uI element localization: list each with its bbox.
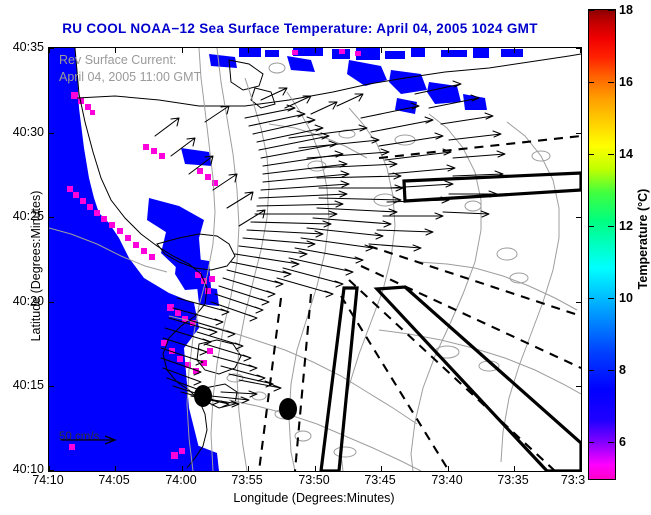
- colorbar-label-12: 12: [619, 219, 633, 233]
- colorbar-label-16: 16: [619, 75, 633, 89]
- colorbar-tick-right-8: [608, 370, 614, 371]
- y-tick-right-0: [576, 48, 581, 49]
- y-tick-right-5: [576, 470, 581, 471]
- colorbar-label-18: 18: [619, 3, 633, 17]
- x-tick-label-8: 73:3: [561, 473, 585, 487]
- y-tick-3: [49, 302, 54, 303]
- x-tick-4: [315, 466, 316, 471]
- x-tick-top-7: [514, 48, 515, 53]
- x-tick-1: [115, 466, 116, 471]
- colorbar-tick-16: [588, 82, 594, 83]
- colorbar-tick-12: [588, 226, 594, 227]
- y-axis-title: Latitude (Degrees:Minutes): [29, 136, 43, 396]
- colorbar-tick-8: [588, 370, 594, 371]
- y-tick-right-2: [576, 217, 581, 218]
- station-markers: [194, 385, 297, 420]
- x-tick-label-2: 74:00: [165, 473, 196, 487]
- x-tick-label-6: 73:40: [431, 473, 462, 487]
- x-tick-7: [514, 466, 515, 471]
- y-tick-label-5: 40:10: [13, 462, 44, 476]
- colorbar-tick-right-16: [608, 82, 614, 83]
- colorbar-label-6: 6: [619, 435, 626, 449]
- x-tick-top-2: [182, 48, 183, 53]
- x-tick-top-1: [115, 48, 116, 53]
- temperature-colorbar: [588, 9, 616, 480]
- x-tick-label-7: 73:35: [497, 473, 528, 487]
- y-tick-label-0: 40:35: [13, 40, 44, 54]
- plot-clip-region: Rev Surface Current: April 04, 2005 11:0…: [49, 48, 581, 471]
- colorbar-tick-right-14: [608, 154, 614, 155]
- colorbar-tick-right-6: [608, 442, 614, 443]
- x-tick-top-5: [381, 48, 382, 53]
- y-tick-5: [49, 470, 54, 471]
- x-tick-top-3: [248, 48, 249, 53]
- x-axis-title: Longitude (Degrees:Minutes): [48, 491, 580, 505]
- page-title: RU COOL NOAA−12 Sea Surface Temperature:…: [0, 21, 600, 36]
- colorbar-tick-18: [588, 10, 594, 11]
- colorbar-title: Temperature (°C): [636, 149, 650, 329]
- colorbar-tick-right-18: [608, 10, 614, 11]
- y-tick-1: [49, 133, 54, 134]
- y-tick-2: [49, 217, 54, 218]
- x-tick-label-1: 74:05: [98, 473, 129, 487]
- y-tick-right-4: [576, 386, 581, 387]
- y-tick-0: [49, 48, 54, 49]
- y-tick-right-3: [576, 302, 581, 303]
- x-tick-3: [248, 466, 249, 471]
- colorbar-tick-right-12: [608, 226, 614, 227]
- colorbar-tick-6: [588, 442, 594, 443]
- x-tick-5: [381, 466, 382, 471]
- sst-map-plot: Rev Surface Current: April 04, 2005 11:0…: [48, 47, 582, 472]
- x-tick-6: [448, 466, 449, 471]
- colorbar-label-8: 8: [619, 363, 626, 377]
- colorbar-tick-14: [588, 154, 594, 155]
- velocity-scale-bar: 50 cm/s: [59, 431, 99, 443]
- colorbar-label-14: 14: [619, 147, 633, 161]
- colorbar-tick-10: [588, 298, 594, 299]
- x-tick-top-6: [448, 48, 449, 53]
- x-tick-label-3: 73:55: [231, 473, 262, 487]
- x-tick-2: [182, 466, 183, 471]
- colorbar-label-10: 10: [619, 291, 633, 305]
- x-tick-top-4: [315, 48, 316, 53]
- scale-bar-arrow-icon: [59, 434, 121, 446]
- x-tick-label-5: 73:45: [364, 473, 395, 487]
- y-tick-right-1: [576, 133, 581, 134]
- map-canvas: [49, 48, 581, 471]
- x-tick-label-4: 73:50: [298, 473, 329, 487]
- y-tick-4: [49, 386, 54, 387]
- colorbar-tick-right-10: [608, 298, 614, 299]
